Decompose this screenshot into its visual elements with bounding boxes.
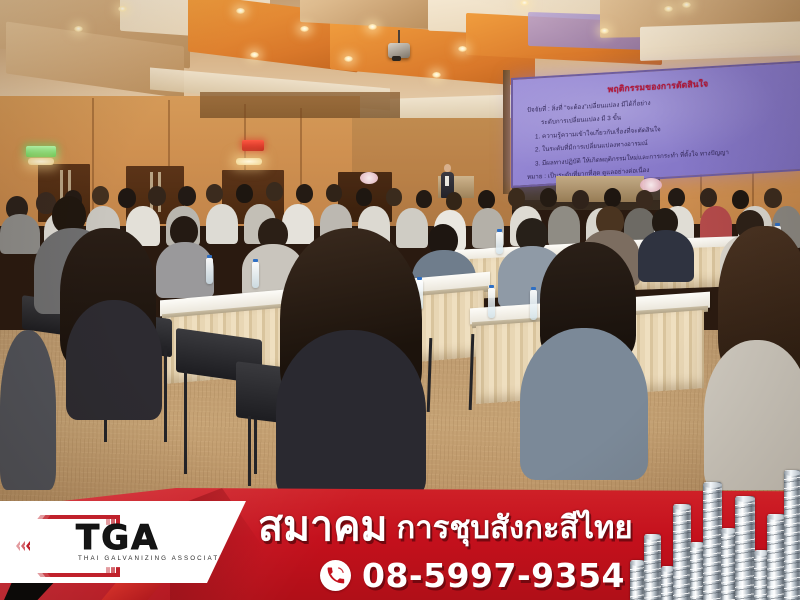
downlight-icon xyxy=(74,26,83,32)
downlight-icon xyxy=(682,2,691,8)
head-table xyxy=(556,176,644,202)
galvanized-rebar-graphic xyxy=(628,458,800,600)
projection-screen: พฤติกรรมของการตัดสินใจ ปัจจัยที่ : สิ่งท… xyxy=(511,61,800,188)
logo-wordmark: TGA xyxy=(76,521,159,555)
downlight-icon xyxy=(344,56,353,62)
downlight-icon xyxy=(236,8,245,14)
banner-headline: สมาคม การชุบสังกะสีไทย xyxy=(258,506,633,547)
water-bottle xyxy=(252,262,259,288)
promo-banner: TGA THAI GALVANIZING ASSOCIATION สมาคม ก… xyxy=(0,488,800,600)
downlight-icon xyxy=(368,24,377,30)
exit-sign xyxy=(26,146,56,157)
speaker-head xyxy=(444,164,451,172)
tga-logo: TGA THAI GALVANIZING ASSOCIATION xyxy=(16,511,216,573)
attendee-body xyxy=(0,330,56,490)
ceiling-panel xyxy=(640,21,800,61)
water-bottle xyxy=(530,290,537,320)
phone-number: 08-5997-9354 xyxy=(362,559,625,592)
banner-image: พฤติกรรมของการตัดสินใจ ปัจจัยที่ : สิ่งท… xyxy=(0,0,800,600)
downlight-icon xyxy=(600,28,609,34)
downlight-icon xyxy=(432,72,441,78)
downlight-icon xyxy=(458,46,467,52)
logo-subtitle: THAI GALVANIZING ASSOCIATION xyxy=(78,555,237,562)
slide-content: พฤติกรรมของการตัดสินใจ ปัจจัยที่ : สิ่งท… xyxy=(527,71,789,182)
fire-alarm-sign xyxy=(242,140,264,151)
downlight-icon xyxy=(664,6,673,12)
flower-arrangement xyxy=(360,172,378,184)
water-bottle xyxy=(206,258,213,284)
phone-icon xyxy=(320,560,351,591)
screen-frame xyxy=(503,70,510,194)
water-bottle xyxy=(496,232,503,254)
ceiling-projector-icon xyxy=(386,30,412,60)
downlight-icon xyxy=(118,6,127,12)
headline-rest: การชุบสังกะสีไทย xyxy=(397,513,633,547)
attendee-body xyxy=(276,330,426,500)
headline-bold: สมาคม xyxy=(258,506,388,547)
downlight-icon xyxy=(300,26,309,32)
attendee-body xyxy=(66,300,162,420)
logo-panel[interactable]: TGA THAI GALVANIZING ASSOCIATION xyxy=(0,501,246,583)
downlight-icon xyxy=(250,52,259,58)
phone-row[interactable]: 08-5997-9354 xyxy=(320,559,625,592)
water-bottle xyxy=(488,288,495,318)
downlight-icon xyxy=(520,0,529,6)
